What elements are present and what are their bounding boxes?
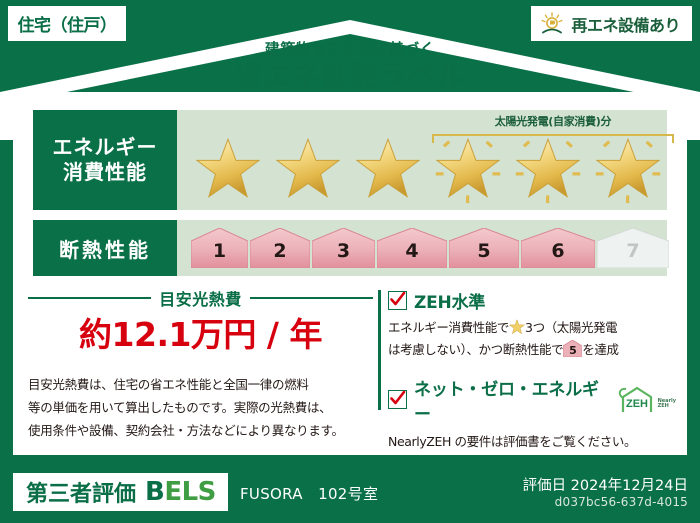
evaluation-date: 評価日 2024年12月24日 (523, 474, 688, 495)
title-main: 省エネ性能ラベル (0, 62, 700, 90)
star-3 (349, 136, 427, 202)
evaluation-id: d037bc56-637d-4015 (555, 495, 688, 509)
label-title-block: 建築物省エネ法に基づく 省エネ性能ラベル (0, 42, 700, 90)
solar-bracket-caption: 太陽光発電(自家消費)分 (432, 113, 674, 129)
zeh-house-logo-icon: ZEH (618, 386, 656, 413)
zeh-netzero-title: ネット・ゼロ・エネルギー (414, 375, 607, 425)
star-6-solar (589, 136, 667, 202)
insulation-key-label: 断熱性能 (59, 234, 151, 263)
insulation-level-4: 4 (377, 228, 447, 268)
insulation-level-6: 6 (521, 228, 595, 268)
bels-wordmark: BELS (145, 479, 216, 505)
star-icon (515, 136, 581, 202)
renewable-equipment-badge: 再エネ設備あり (531, 6, 692, 41)
star-icon (275, 136, 341, 202)
star-icon (595, 136, 661, 202)
third-party-eval-label: 第三者評価 (26, 476, 136, 508)
zeh-desc-part-b: 3つ（太陽光発電 (525, 320, 617, 335)
insulation-performance-key: 断熱性能 (33, 220, 177, 276)
utility-cost-amount: 約12.1万円 / 年 (28, 318, 373, 351)
insulation-level-7: 7 (597, 228, 669, 268)
energy-key-line1: エネルギー (53, 135, 158, 160)
energy-performance-value: 太陽光発電(自家消費)分 (177, 110, 667, 210)
level-number: 5 (477, 242, 490, 268)
utility-cost-block: 目安光熱費 約12.1万円 / 年 目安光熱費は、住宅の省エネ性能と全国一律の燃… (28, 286, 373, 442)
zeh-desc-part-a: エネルギー消費性能で (388, 320, 509, 335)
housing-type-badge: 住宅（住戸） (8, 6, 126, 41)
zeh-netzero-checkbox (388, 390, 407, 409)
bels-certification-plate: 第三者評価 BELS (13, 473, 228, 511)
star-5-solar (509, 136, 587, 202)
bels-letter-b: B (145, 477, 164, 507)
star-2 (269, 136, 347, 202)
zeh-logo-sub2: ZEH (658, 404, 676, 409)
level-number: 4 (405, 242, 418, 268)
inline-level-number: 5 (563, 345, 582, 356)
bels-energy-label: 住宅（住戸） 再エネ設備あり 建築物省エネ法に基づく 省エネ性能ラベル エネルギ… (0, 0, 700, 523)
property-name: FUSORA 102号室 (240, 483, 378, 504)
level-number: 6 (551, 242, 564, 268)
utility-cost-note: 目安光熱費は、住宅の省エネ性能と全国一律の燃料 等の単価を用いて算出したものです… (28, 373, 373, 442)
level-number: 3 (337, 242, 350, 268)
insulation-level-5: 5 (449, 228, 519, 268)
level-number: 1 (213, 242, 226, 268)
zeh-standard-item: ZEH水準 エネルギー消費性能で3つ（太陽光発電 は考慮しない）、かつ断熱性能で… (388, 288, 676, 361)
utility-cost-heading: 目安光熱費 (28, 286, 373, 310)
rule-right (250, 297, 373, 299)
renewable-equipment-label: 再エネ設備あり (571, 12, 680, 36)
insulation-performance-panel: 断熱性能 1 2 (33, 220, 667, 276)
rule-left (28, 297, 151, 299)
inline-star-icon (509, 319, 525, 335)
insulation-level-2: 2 (250, 228, 310, 268)
energy-performance-key: エネルギー 消費性能 (33, 110, 177, 210)
star-icon (195, 136, 261, 202)
zeh-netzero-title-row: ネット・ゼロ・エネルギー ZEH Nearly ZEH (388, 375, 676, 425)
check-icon (388, 389, 407, 408)
zeh-desc-part-d: を達成 (582, 342, 618, 357)
label-footer: 第三者評価 BELS FUSORA 102号室 評価日 2024年12月24日 … (0, 461, 700, 523)
utility-cost-note-line1: 目安光熱費は、住宅の省エネ性能と全国一律の燃料 (28, 373, 373, 396)
utility-cost-note-line2: 等の単価を用いて算出したものです。実際の光熱費は、 (28, 396, 373, 419)
zeh-logo: ZEH Nearly ZEH (618, 386, 676, 413)
zeh-standard-checkbox (388, 291, 407, 310)
star-icon (355, 136, 421, 202)
utility-cost-note-line3: 使用条件や設備、契約会社・方法などにより異なります。 (28, 419, 373, 442)
level-number: 7 (626, 242, 639, 268)
solar-sun-icon (539, 11, 565, 37)
title-subtitle: 建築物省エネ法に基づく (0, 42, 700, 57)
zeh-netzero-item: ネット・ゼロ・エネルギー ZEH Nearly ZEH NearlyZEH の要… (388, 375, 676, 453)
zeh-standard-description: エネルギー消費性能で3つ（太陽光発電 は考慮しない）、かつ断熱性能で5を達成 (388, 317, 676, 361)
svg-text:ZEH: ZEH (626, 398, 648, 410)
insulation-level-1: 1 (191, 228, 248, 268)
insulation-level-scale: 1 2 3 4 (191, 228, 669, 268)
insulation-level-3: 3 (312, 228, 375, 268)
zeh-standard-title: ZEH水準 (414, 288, 485, 313)
energy-performance-panel: エネルギー 消費性能 太陽光発電(自家消費)分 (33, 110, 667, 210)
bels-letters-els: ELS (164, 477, 216, 507)
zeh-standard-title-row: ZEH水準 (388, 288, 676, 313)
star-4-solar (429, 136, 507, 202)
zeh-divider (378, 290, 381, 410)
energy-star-rating (189, 136, 667, 202)
utility-cost-heading-label: 目安光熱費 (159, 286, 242, 310)
check-icon (388, 290, 407, 309)
zeh-desc-part-c: は考慮しない）、かつ断熱性能で (388, 342, 563, 357)
star-icon (435, 136, 501, 202)
star-1 (189, 136, 267, 202)
zeh-netzero-description: NearlyZEH の要件は評価書をご覧ください。 (388, 431, 676, 453)
energy-key-line2: 消費性能 (63, 160, 147, 185)
housing-type-label: 住宅（住戸） (18, 11, 117, 36)
inline-level-badge: 5 (563, 340, 582, 357)
zeh-section: ZEH水準 エネルギー消費性能で3つ（太陽光発電 は考慮しない）、かつ断熱性能で… (388, 288, 676, 457)
level-number: 2 (273, 242, 286, 268)
insulation-performance-value: 1 2 3 4 (177, 220, 667, 276)
